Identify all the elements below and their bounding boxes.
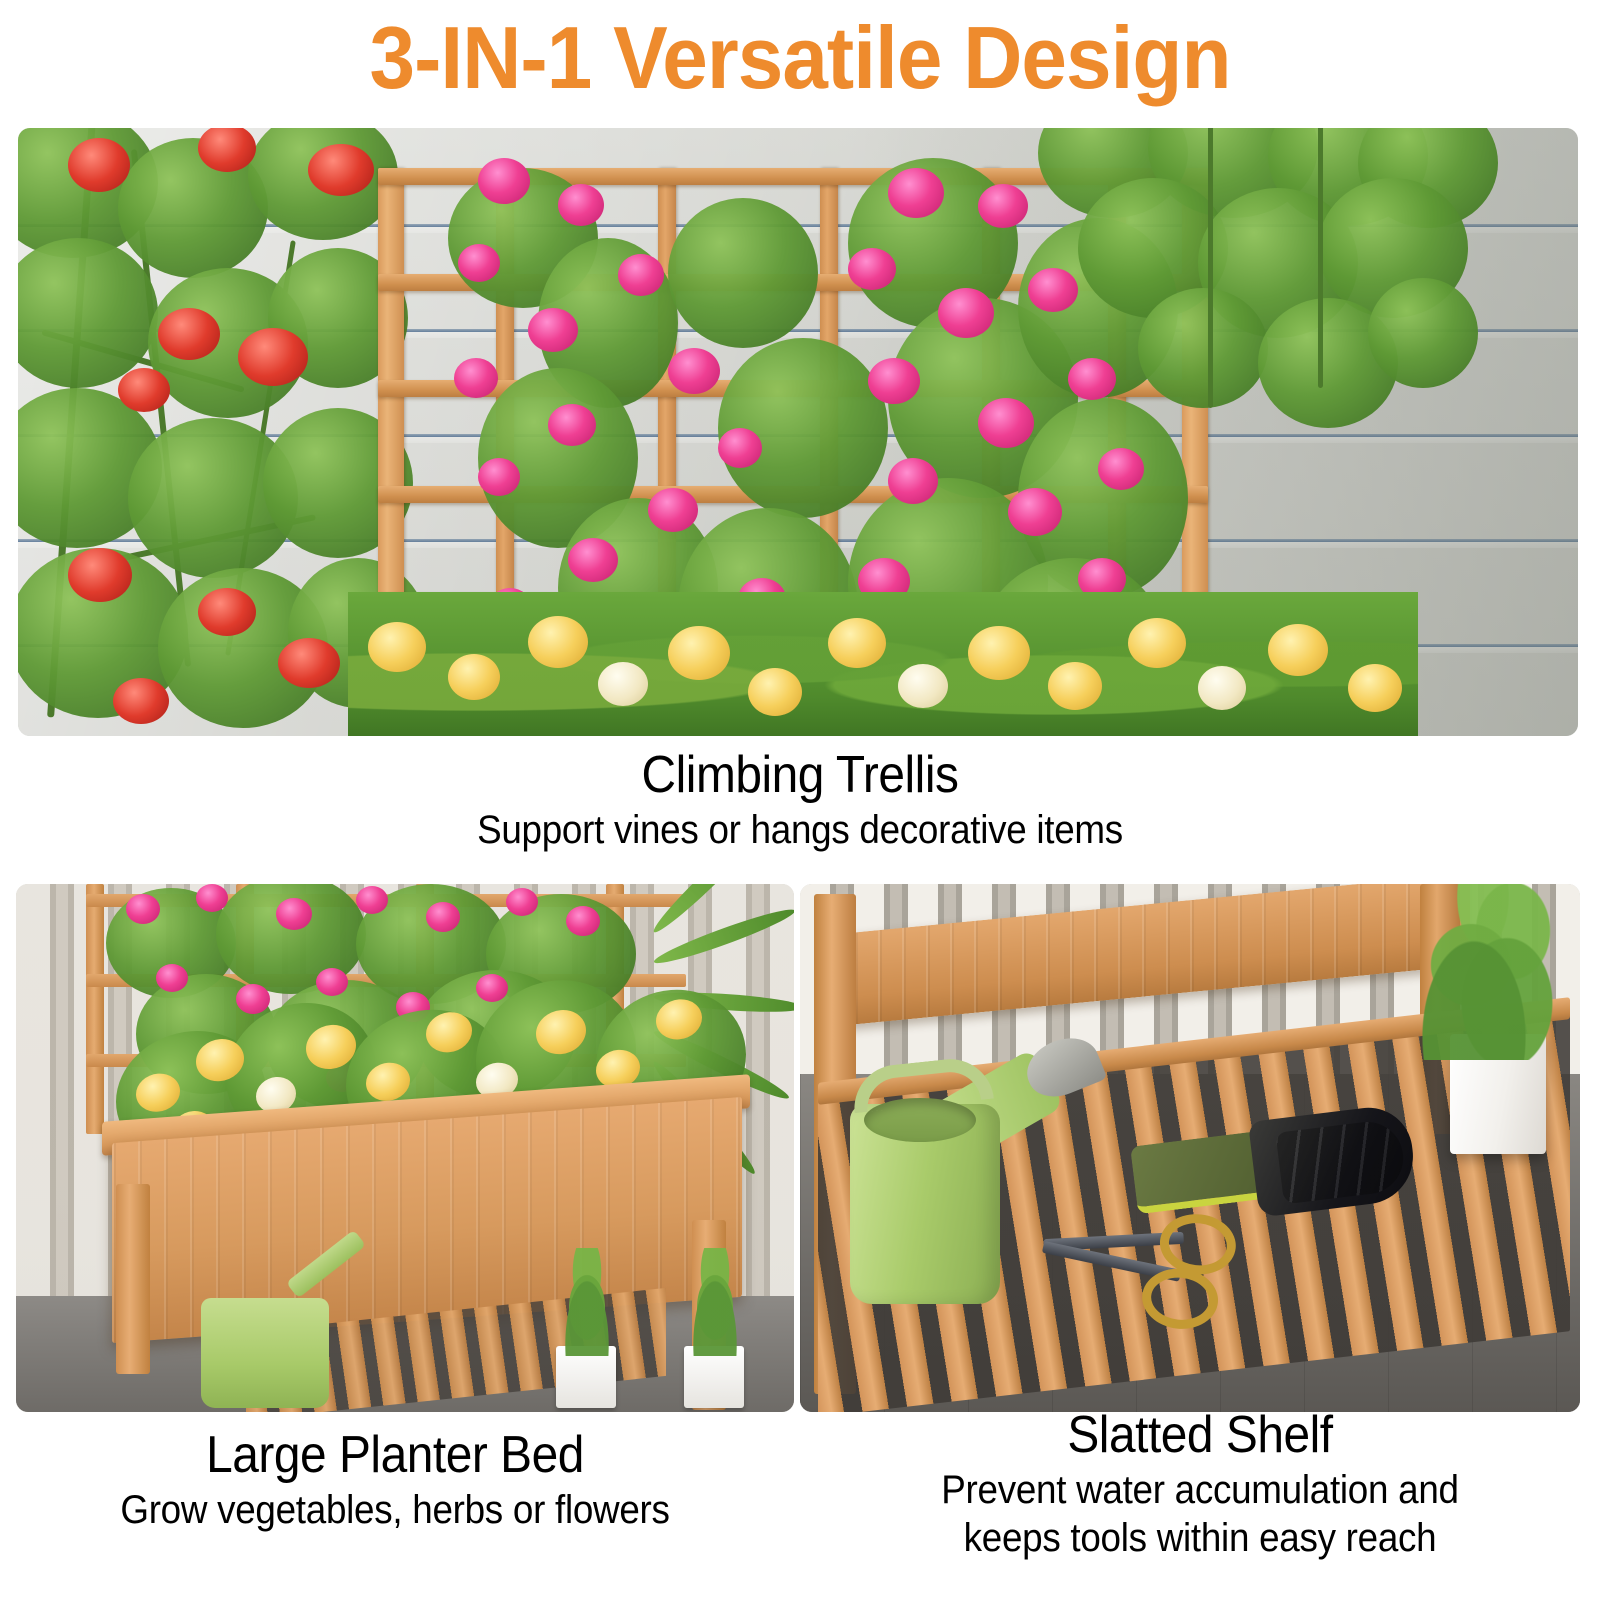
feature-image-large-planter-bed bbox=[16, 884, 794, 1412]
rosemary-plant bbox=[1414, 884, 1564, 1060]
caption-title-slatted-shelf: Slatted Shelf bbox=[832, 1404, 1568, 1466]
feature-image-climbing-trellis bbox=[18, 128, 1578, 736]
infographic-page: 3-IN-1 Versatile Design bbox=[0, 0, 1600, 1600]
green-ivy-vine bbox=[1018, 128, 1478, 438]
rosemary-plant-1 bbox=[554, 1248, 620, 1356]
caption-subtitle-climbing-trellis: Support vines or hangs decorative items bbox=[64, 806, 1536, 854]
watering-can bbox=[838, 1044, 1028, 1304]
rosemary-plant-2 bbox=[682, 1248, 748, 1356]
caption-slatted-shelf: Slatted Shelf Prevent water accumulation… bbox=[800, 1404, 1600, 1562]
caption-climbing-trellis: Climbing Trellis Support vines or hangs … bbox=[0, 744, 1600, 854]
glove-fingers bbox=[1248, 1103, 1419, 1218]
caption-subtitle-large-planter-bed: Grow vegetables, herbs or flowers bbox=[32, 1486, 759, 1534]
caption-large-planter-bed: Large Planter Bed Grow vegetables, herbs… bbox=[0, 1424, 790, 1534]
watering-can bbox=[201, 1298, 329, 1408]
page-title: 3-IN-1 Versatile Design bbox=[56, 6, 1544, 110]
feature-image-slatted-shelf bbox=[800, 884, 1580, 1412]
caption-title-large-planter-bed: Large Planter Bed bbox=[32, 1424, 759, 1486]
planter-leg-left bbox=[116, 1184, 150, 1374]
caption-title-climbing-trellis: Climbing Trellis bbox=[64, 744, 1536, 806]
caption-subtitle-slatted-shelf-line2: keeps tools within easy reach bbox=[832, 1514, 1568, 1562]
caption-subtitle-slatted-shelf-line1: Prevent water accumulation and bbox=[832, 1466, 1568, 1514]
yellow-rose-bed bbox=[348, 592, 1418, 736]
